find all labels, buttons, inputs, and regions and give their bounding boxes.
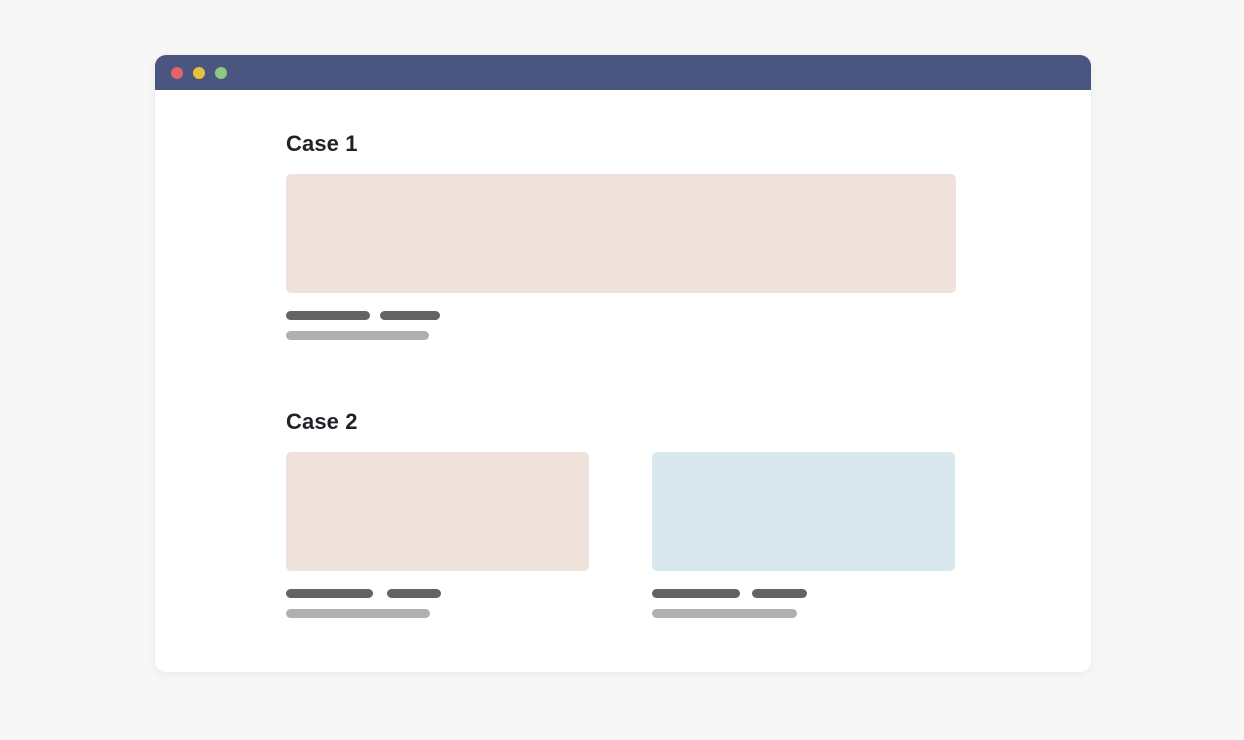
thumbnail-placeholder[interactable] — [652, 452, 955, 571]
caption-line-primary — [286, 311, 956, 320]
card-case-1-1[interactable] — [286, 174, 956, 340]
app-window: Case 1 — [155, 55, 1091, 672]
caption-block — [286, 589, 589, 618]
text-placeholder-bar — [652, 609, 797, 618]
card-case-2-2[interactable] — [652, 452, 955, 618]
thumbnail-placeholder[interactable] — [286, 174, 956, 293]
window-titlebar — [155, 55, 1091, 90]
close-button[interactable] — [171, 67, 183, 79]
text-placeholder-bar — [286, 589, 373, 598]
card-case-2-1[interactable] — [286, 452, 589, 618]
caption-line-secondary — [286, 331, 956, 340]
cards-row-case-2 — [286, 452, 955, 618]
text-placeholder-bar — [380, 311, 440, 320]
text-placeholder-bar — [286, 331, 429, 340]
caption-line-primary — [286, 589, 589, 598]
section-case-2: Case 2 — [286, 410, 955, 618]
text-placeholder-bar — [652, 589, 740, 598]
caption-block — [286, 311, 956, 340]
text-placeholder-bar — [387, 589, 441, 598]
cards-row-case-1 — [286, 174, 956, 340]
caption-line-primary — [652, 589, 955, 598]
zoom-button[interactable] — [215, 67, 227, 79]
caption-line-secondary — [652, 609, 955, 618]
thumbnail-placeholder[interactable] — [286, 452, 589, 571]
section-title-case-2: Case 2 — [286, 410, 955, 434]
text-placeholder-bar — [286, 609, 430, 618]
screenshot-stage: Case 1 — [0, 0, 1244, 740]
window-content: Case 1 — [155, 90, 1091, 672]
text-placeholder-bar — [752, 589, 807, 598]
caption-block — [652, 589, 955, 618]
minimize-button[interactable] — [193, 67, 205, 79]
caption-line-secondary — [286, 609, 589, 618]
section-case-1: Case 1 — [286, 132, 956, 340]
text-placeholder-bar — [286, 311, 370, 320]
section-title-case-1: Case 1 — [286, 132, 956, 156]
